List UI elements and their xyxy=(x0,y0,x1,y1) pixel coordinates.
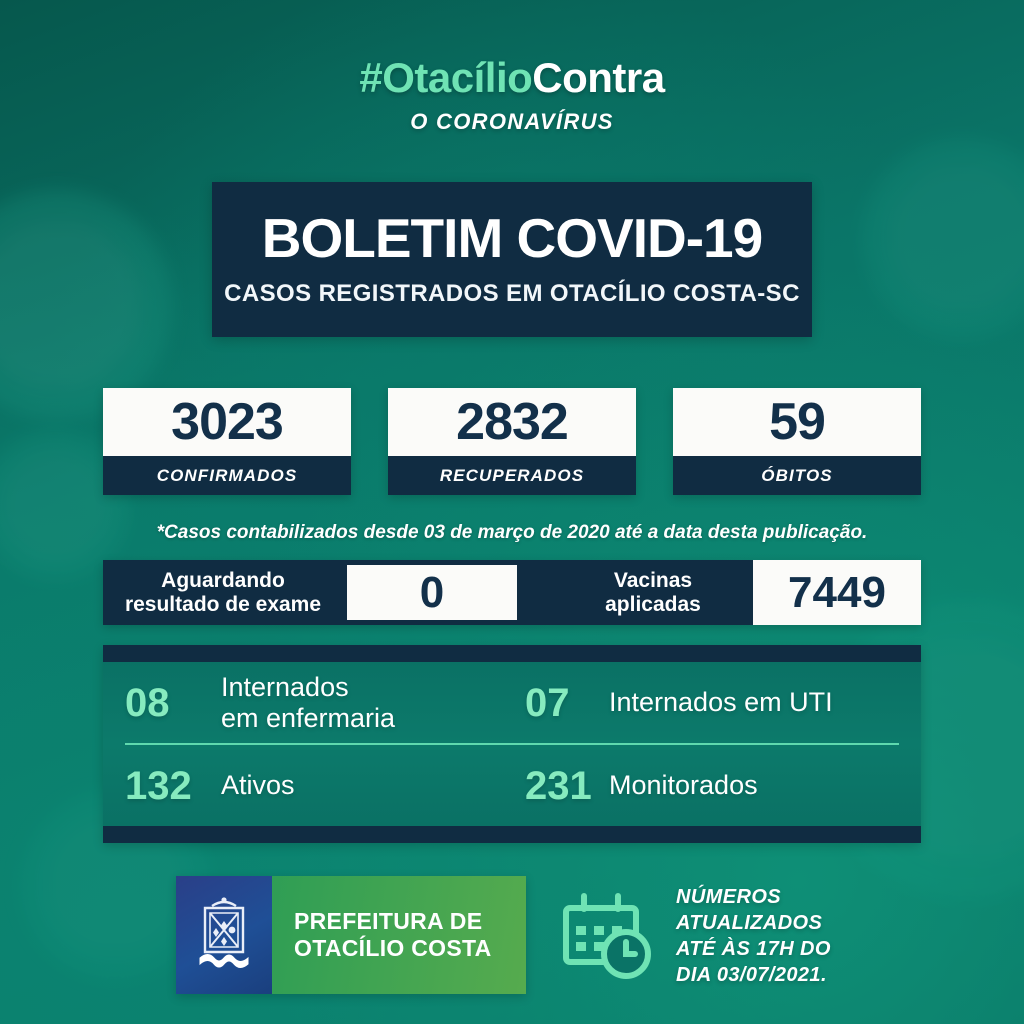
stat-monitorados: 231 Monitorados xyxy=(525,766,758,806)
stat-label: ÓBITOS xyxy=(673,456,921,495)
stat-card-recuperados: 2832 RECUPERADOS xyxy=(388,388,636,495)
panel-bottom-bar xyxy=(103,826,921,843)
vaccines-label-line1: Vacinas xyxy=(553,569,753,593)
bulletin-title-block: BOLETIM COVID-19 CASOS REGISTRADOS EM OT… xyxy=(212,182,812,337)
stat-value: 3023 xyxy=(103,388,351,456)
footer: PREFEITURA DE OTACÍLIO COSTA NÚMEROS ATU… xyxy=(0,876,1024,998)
awaiting-exam-value: 0 xyxy=(347,565,517,620)
prefecture-name-line2: OTACÍLIO COSTA xyxy=(294,935,492,962)
stat-value: 59 xyxy=(673,388,921,456)
footnote-text: *Casos contabilizados desde 03 de março … xyxy=(0,522,1024,544)
stat-label: CONFIRMADOS xyxy=(103,456,351,495)
vaccines-label-line2: aplicadas xyxy=(553,593,753,617)
campaign-subtitle: O CORONAVÍRUS xyxy=(0,109,1024,135)
update-line3: ATÉ ÀS 17H DO xyxy=(676,936,831,962)
awaiting-exam-label: Aguardando resultado de exame xyxy=(103,569,343,616)
stat-internados-uti: 07 Internados em UTI xyxy=(525,683,833,723)
update-line2: ATUALIZADOS xyxy=(676,910,831,936)
panel-row-hospitalizations: 08 Internados em enfermaria 07 Internado… xyxy=(125,662,899,745)
prefecture-logo: PREFEITURA DE OTACÍLIO COSTA xyxy=(176,876,526,994)
hospitalization-panel: 08 Internados em enfermaria 07 Internado… xyxy=(103,645,921,843)
stat-label: Internados em UTI xyxy=(609,687,833,717)
stat-label-line1: Internados xyxy=(221,672,395,702)
stat-value: 07 xyxy=(525,683,591,723)
stat-card-obitos: 59 ÓBITOS xyxy=(673,388,921,495)
stat-label: Monitorados xyxy=(609,770,758,800)
vaccines-label: Vacinas aplicadas xyxy=(553,569,753,616)
background xyxy=(0,0,1024,1024)
stat-value: 231 xyxy=(525,766,591,806)
awaiting-exam-label-line2: resultado de exame xyxy=(103,593,343,617)
campaign-header: #OtacílioContra O CORONAVÍRUS xyxy=(0,56,1024,135)
stat-value: 132 xyxy=(125,766,203,806)
stat-card-confirmados: 3023 CONFIRMADOS xyxy=(103,388,351,495)
campaign-hashtag: #OtacílioContra xyxy=(0,56,1024,100)
prefecture-name: PREFEITURA DE OTACÍLIO COSTA xyxy=(294,908,492,962)
update-timestamp-block: NÚMEROS ATUALIZADOS ATÉ ÀS 17H DO DIA 03… xyxy=(560,880,960,992)
vaccines-value: 7449 xyxy=(753,560,921,625)
secondary-stats-row: Aguardando resultado de exame 0 Vacinas … xyxy=(103,560,921,625)
stat-value: 08 xyxy=(125,683,203,723)
prefecture-name-line1: PREFEITURA DE xyxy=(294,908,492,935)
calendar-clock-icon xyxy=(560,886,656,987)
summary-stat-cards: 3023 CONFIRMADOS 2832 RECUPERADOS 59 ÓBI… xyxy=(103,388,921,495)
hashtag-white-part: Contra xyxy=(532,54,664,101)
stat-label: RECUPERADOS xyxy=(388,456,636,495)
page-subtitle: CASOS REGISTRADOS EM OTACÍLIO COSTA-SC xyxy=(224,280,800,308)
update-line1: NÚMEROS xyxy=(676,884,831,910)
hashtag-mint-part: #Otacílio xyxy=(359,54,532,101)
stat-label-line2: em enfermaria xyxy=(221,703,395,733)
update-line4: DIA 03/07/2021. xyxy=(676,962,831,988)
stat-value: 2832 xyxy=(388,388,636,456)
panel-body: 08 Internados em enfermaria 07 Internado… xyxy=(103,662,921,826)
panel-row-active-monitored: 132 Ativos 231 Monitorados xyxy=(125,745,899,826)
stat-label: Ativos xyxy=(221,770,295,800)
coat-of-arms-icon xyxy=(176,876,272,994)
stat-internados-enfermaria: 08 Internados em enfermaria xyxy=(125,672,525,732)
prefecture-name-panel: PREFEITURA DE OTACÍLIO COSTA xyxy=(272,876,526,994)
stat-label: Internados em enfermaria xyxy=(221,672,395,732)
update-timestamp-text: NÚMEROS ATUALIZADOS ATÉ ÀS 17H DO DIA 03… xyxy=(676,884,831,988)
panel-top-bar xyxy=(103,645,921,662)
page-title: BOLETIM COVID-19 xyxy=(262,211,762,266)
stat-ativos: 132 Ativos xyxy=(125,766,525,806)
awaiting-exam-label-line1: Aguardando xyxy=(103,569,343,593)
